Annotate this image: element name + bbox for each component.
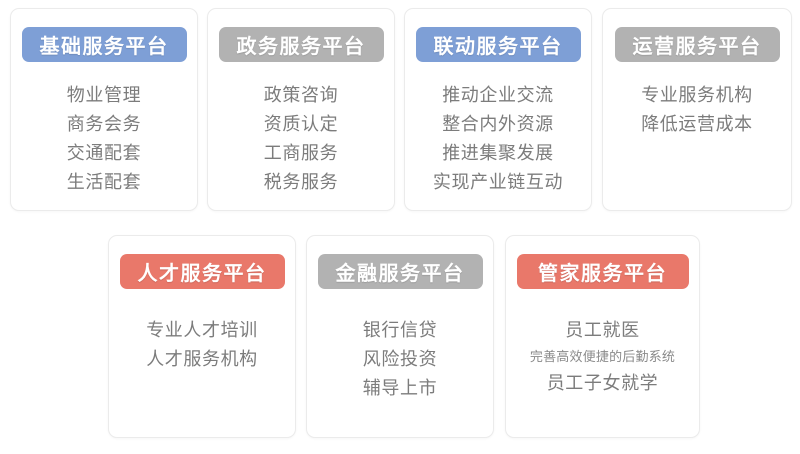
list-item: 资质认定 — [264, 110, 338, 139]
card-basic-service-platform[interactable]: 基础服务平台 物业管理 商务会务 交通配套 生活配套 — [10, 8, 198, 211]
card-financial-service-platform[interactable]: 金融服务平台 银行信贷 风险投资 辅导上市 — [306, 235, 494, 438]
list-item: 税务服务 — [264, 168, 338, 197]
item-list-basic-service-platform: 物业管理 商务会务 交通配套 生活配套 — [11, 81, 197, 197]
list-item: 人才服务机构 — [146, 345, 258, 374]
list-item: 辅导上市 — [363, 374, 437, 403]
badge-butler-service-platform[interactable]: 管家服务平台 — [517, 254, 689, 289]
card-government-service-platform[interactable]: 政务服务平台 政策咨询 资质认定 工商服务 税务服务 — [207, 8, 395, 211]
list-item: 生活配套 — [67, 168, 141, 197]
item-list-operation-service-platform: 专业服务机构 降低运营成本 — [603, 81, 791, 139]
list-item: 政策咨询 — [264, 81, 338, 110]
list-item: 工商服务 — [264, 139, 338, 168]
list-item: 员工就医 — [565, 316, 639, 345]
list-item: 员工子女就学 — [547, 369, 659, 398]
list-item: 物业管理 — [67, 81, 141, 110]
list-item: 整合内外资源 — [442, 110, 554, 139]
list-item-note: 完善高效便捷的后勤系统 — [530, 345, 675, 369]
badge-financial-service-platform[interactable]: 金融服务平台 — [318, 254, 483, 289]
item-list-government-service-platform: 政策咨询 资质认定 工商服务 税务服务 — [208, 81, 394, 197]
card-operation-service-platform[interactable]: 运营服务平台 专业服务机构 降低运营成本 — [602, 8, 792, 211]
card-talent-service-platform[interactable]: 人才服务平台 专业人才培训 人才服务机构 — [108, 235, 296, 438]
item-list-linkage-service-platform: 推动企业交流 整合内外资源 推进集聚发展 实现产业链互动 — [405, 81, 591, 197]
badge-government-service-platform[interactable]: 政务服务平台 — [219, 27, 384, 62]
list-item: 风险投资 — [363, 345, 437, 374]
list-item: 实现产业链互动 — [433, 168, 563, 197]
list-item: 银行信贷 — [363, 316, 437, 345]
list-item: 专业服务机构 — [641, 81, 753, 110]
card-butler-service-platform[interactable]: 管家服务平台 员工就医 完善高效便捷的后勤系统 员工子女就学 — [505, 235, 700, 438]
list-item: 推进集聚发展 — [442, 139, 554, 168]
badge-linkage-service-platform[interactable]: 联动服务平台 — [416, 27, 581, 62]
list-item: 交通配套 — [67, 139, 141, 168]
diagram-canvas: 基础服务平台 物业管理 商务会务 交通配套 生活配套 政务服务平台 政策咨询 资… — [0, 0, 800, 454]
item-list-financial-service-platform: 银行信贷 风险投资 辅导上市 — [307, 316, 493, 403]
badge-talent-service-platform[interactable]: 人才服务平台 — [120, 254, 285, 289]
list-item: 专业人才培训 — [146, 316, 258, 345]
list-item: 降低运营成本 — [641, 110, 753, 139]
item-list-talent-service-platform: 专业人才培训 人才服务机构 — [109, 316, 295, 374]
list-item: 推动企业交流 — [442, 81, 554, 110]
list-item: 商务会务 — [67, 110, 141, 139]
badge-operation-service-platform[interactable]: 运营服务平台 — [615, 27, 780, 62]
card-linkage-service-platform[interactable]: 联动服务平台 推动企业交流 整合内外资源 推进集聚发展 实现产业链互动 — [404, 8, 592, 211]
badge-basic-service-platform[interactable]: 基础服务平台 — [22, 27, 187, 62]
item-list-butler-service-platform: 员工就医 完善高效便捷的后勤系统 员工子女就学 — [506, 316, 699, 398]
